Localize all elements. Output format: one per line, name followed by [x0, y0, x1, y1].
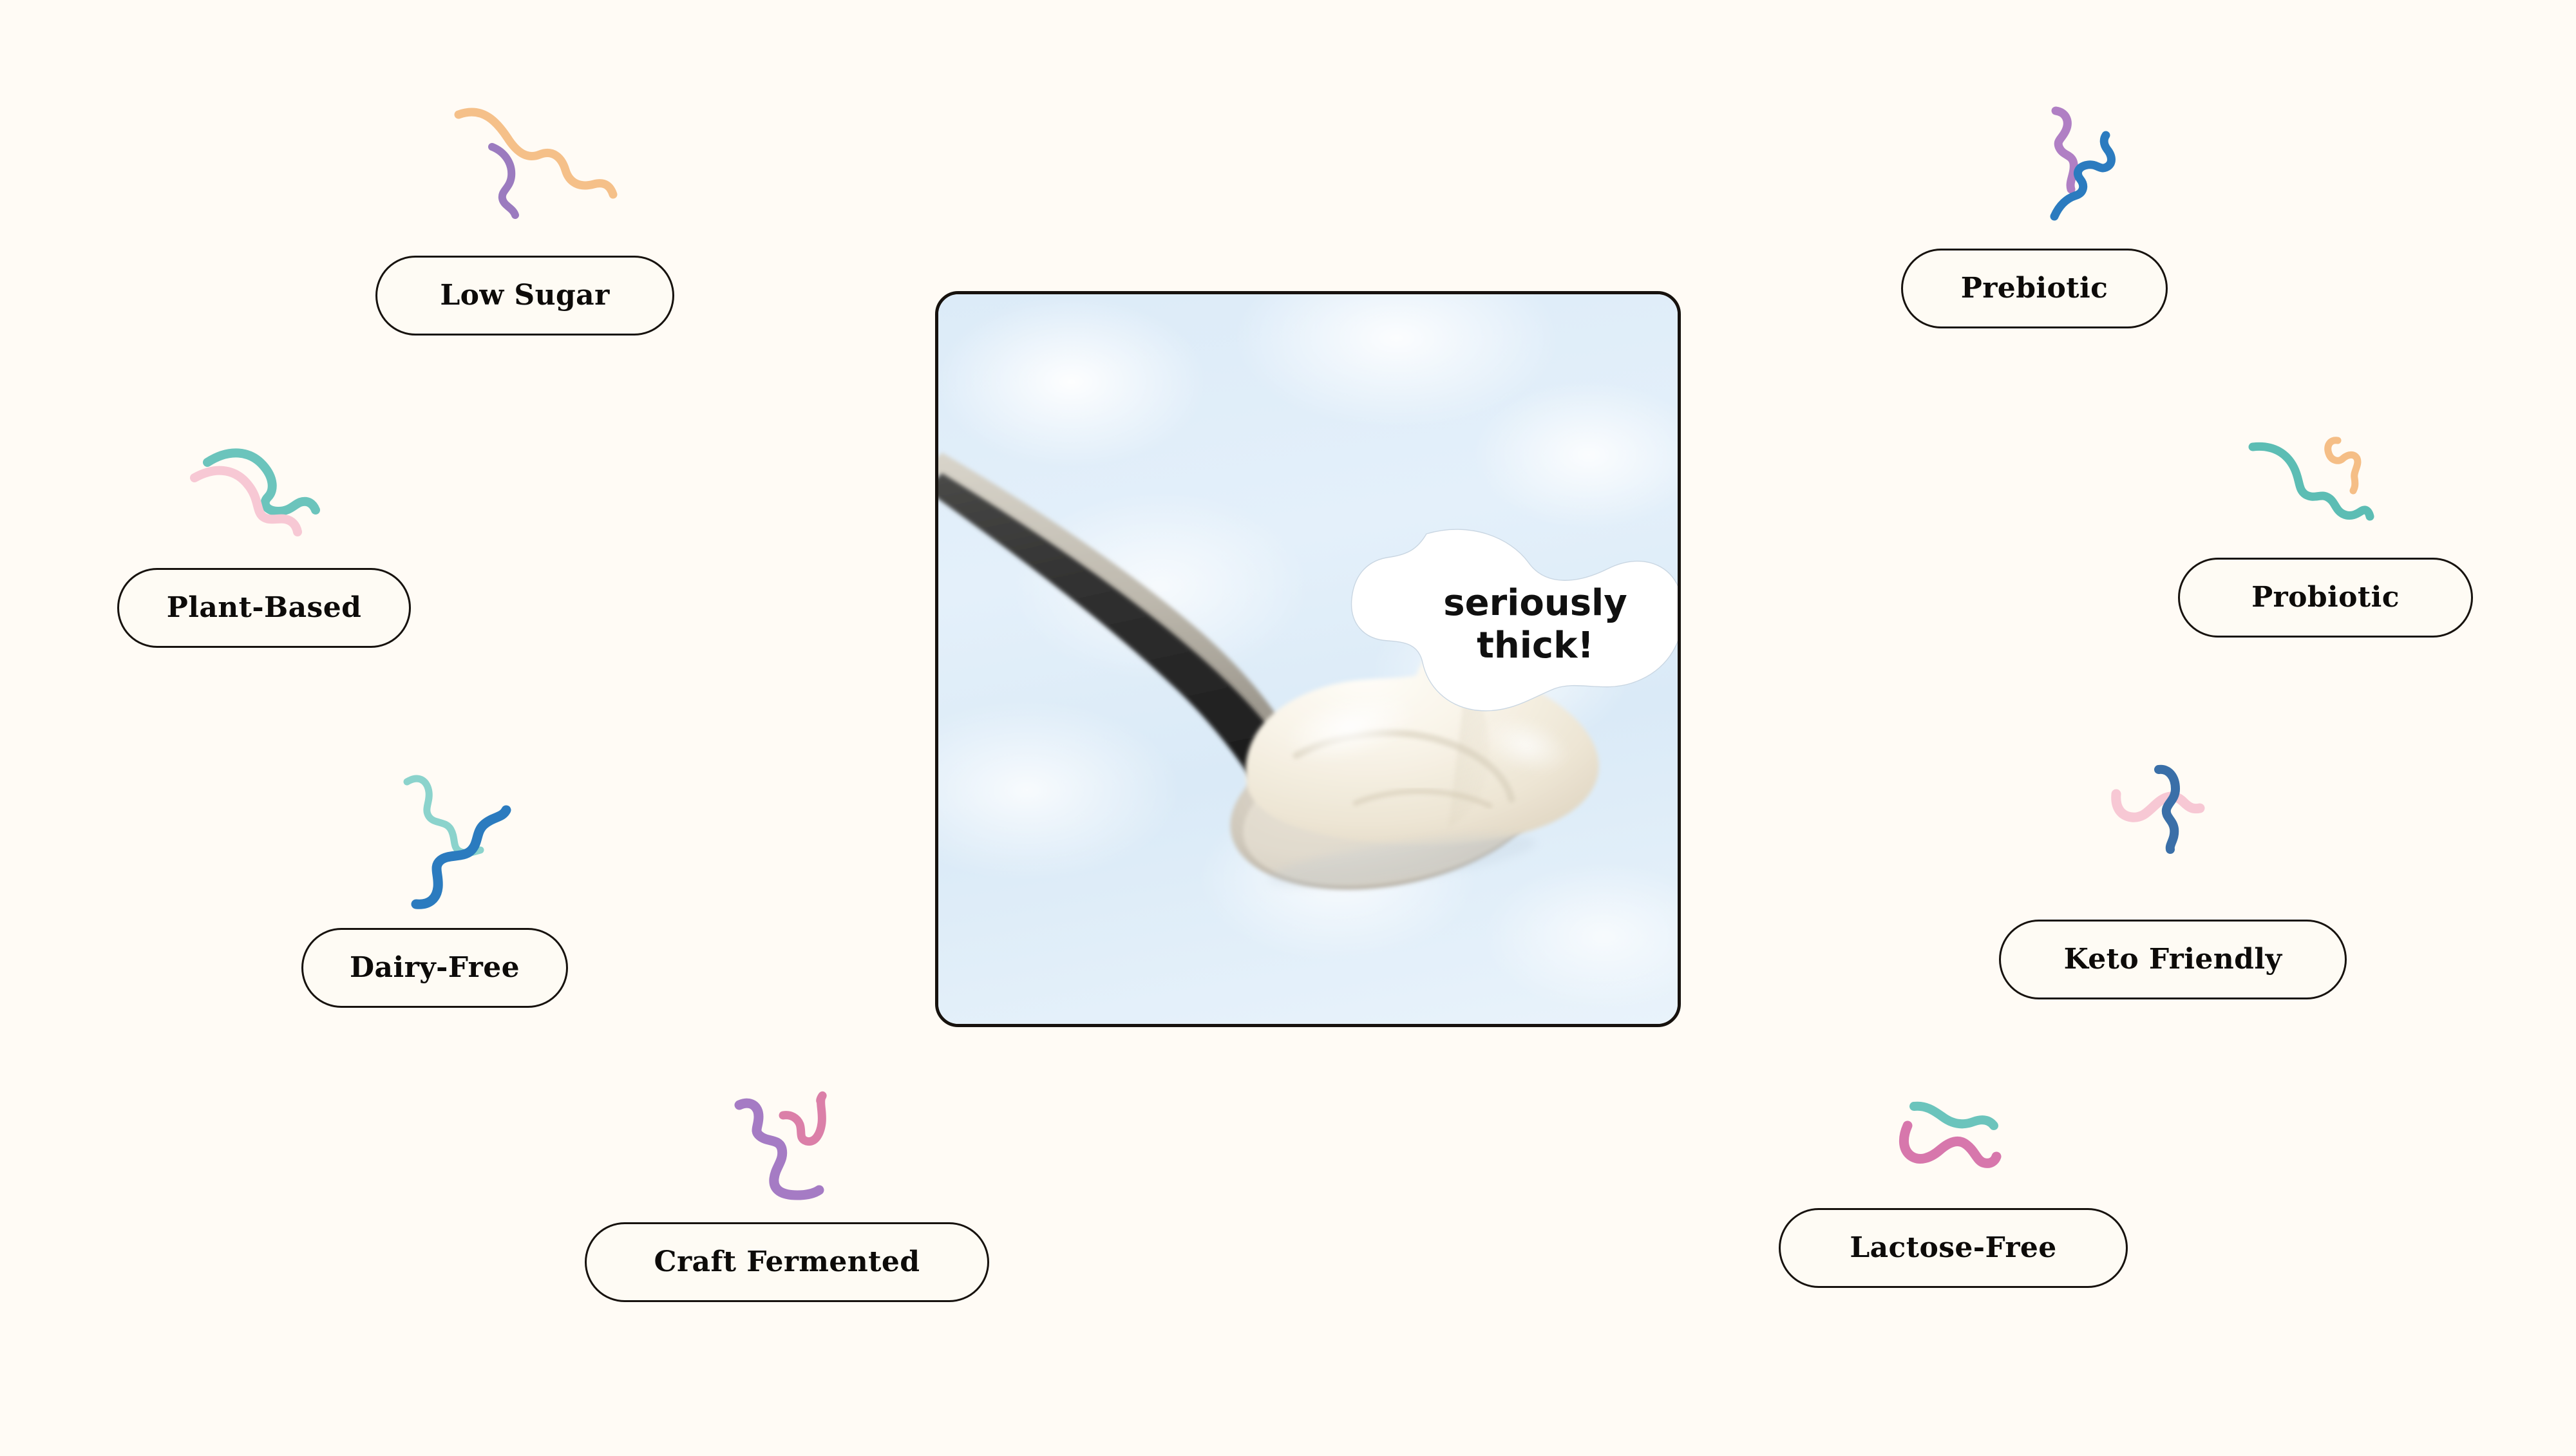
badge-probiotic[interactable]: Probiotic — [2178, 558, 2473, 638]
keto-friendly-squiggles — [2093, 750, 2286, 892]
badge-craft-fermented[interactable]: Craft Fermented — [585, 1222, 989, 1302]
badge-label: Prebiotic — [1961, 274, 2108, 303]
badge-label: Probiotic — [2251, 583, 2400, 612]
badge-keto-friendly[interactable]: Keto Friendly — [1999, 920, 2347, 999]
callout-line-1: seriously — [1443, 582, 1627, 625]
badge-label: Dairy-Free — [350, 954, 520, 982]
lactose-free-squiggles — [1893, 1088, 2087, 1217]
badge-low-sugar[interactable]: Low Sugar — [375, 256, 674, 336]
product-photo-card[interactable]: seriously thick! — [935, 291, 1681, 1027]
prebiotic-squiggles — [1984, 97, 2164, 238]
badge-dairy-free[interactable]: Dairy-Free — [301, 928, 568, 1008]
badge-label: Low Sugar — [440, 281, 609, 310]
badge-label: Plant-Based — [167, 594, 362, 622]
badge-label: Lactose-Free — [1850, 1234, 2056, 1262]
callout-bubble: seriously thick! — [1350, 526, 1681, 719]
craft-fermented-squiggles — [708, 1069, 902, 1224]
poster-canvas: seriously thick! — [0, 0, 2576, 1456]
callout-line-2: thick! — [1477, 625, 1594, 667]
badge-label: Keto Friendly — [2064, 945, 2282, 974]
badge-lactose-free[interactable]: Lactose-Free — [1779, 1208, 2128, 1288]
dairy-free-squiggles — [380, 760, 586, 940]
low-sugar-squiggles — [425, 90, 631, 232]
probiotic-squiggles — [2235, 425, 2415, 554]
badge-prebiotic[interactable]: Prebiotic — [1901, 249, 2168, 328]
badge-plant-based[interactable]: Plant-Based — [117, 568, 411, 648]
plant-based-squiggles — [180, 425, 386, 554]
badge-label: Craft Fermented — [654, 1248, 920, 1276]
